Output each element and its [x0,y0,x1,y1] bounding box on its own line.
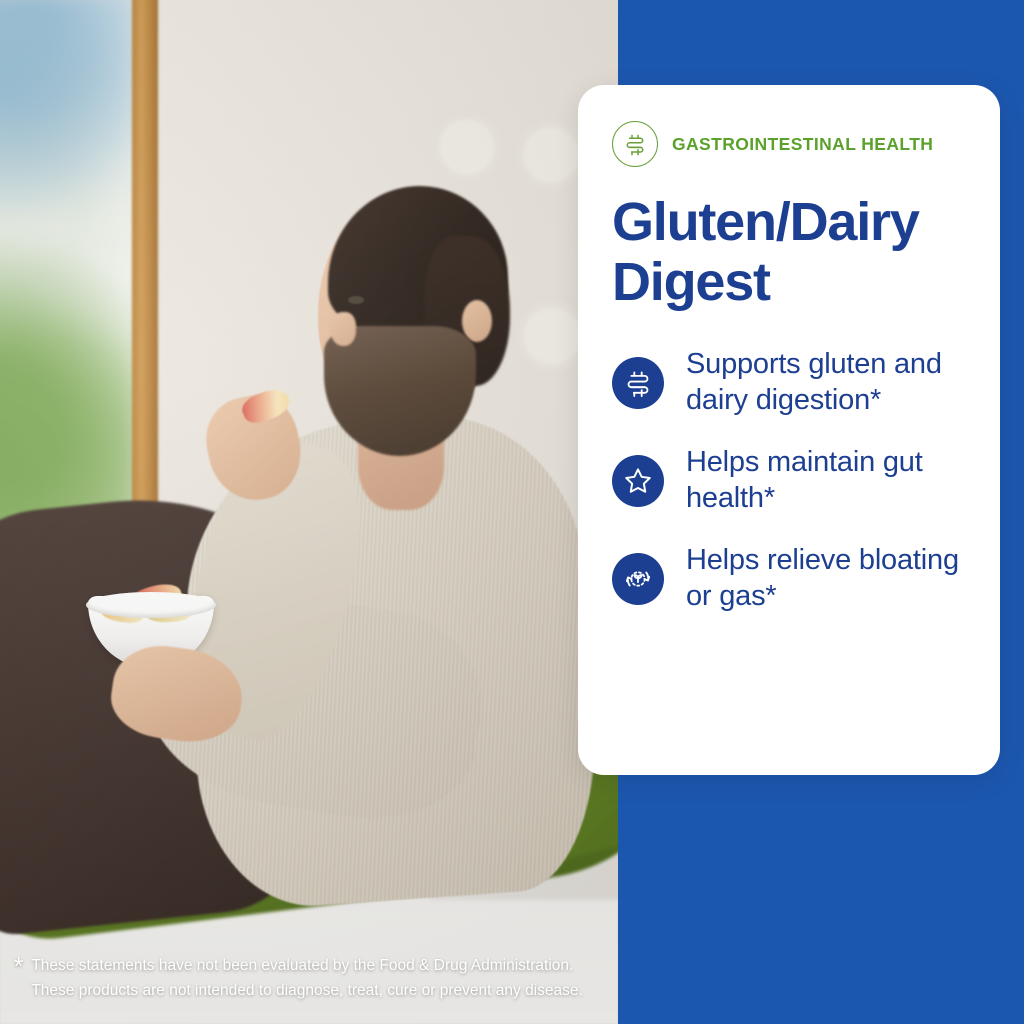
photo-wall-plate [432,112,502,182]
benefit-label: Helps relieve bloating or gas* [686,543,974,615]
benefits-list: Supports gluten and dairy digestion* Hel… [612,347,974,615]
disclaimer-line-1: These statements have not been evaluated… [31,957,573,974]
photo-window-frame [132,0,158,580]
intestine-icon [612,121,658,167]
disclaimer: * These statements have not been evaluat… [14,953,614,1004]
photo-nose [330,312,356,346]
lifestyle-photo [0,0,618,1024]
product-info-card: GASTROINTESTINAL HEALTH Gluten/Dairy Dig… [578,85,1000,775]
photo-wall-plate [516,120,586,190]
disclaimer-text: These statements have not been evaluated… [31,953,582,1004]
page-title-line-1: Gluten/Dairy [612,193,974,253]
photo-window [0,0,140,550]
disclaimer-marker: * [14,955,23,979]
intestine-icon [612,357,664,409]
disclaimer-line-2: These products are not intended to diagn… [31,982,582,999]
recycle-sprout-icon [612,553,664,605]
photo-bowl-rim [86,592,216,618]
page-title: Gluten/Dairy Digest [612,193,974,313]
page-title-line-2: Digest [612,253,974,313]
benefit-item: Helps relieve bloating or gas* [612,543,974,615]
photo-eye [348,296,364,304]
category-badge-label: GASTROINTESTINAL HEALTH [672,134,933,155]
benefit-item: Helps maintain gut health* [612,445,974,517]
advertisement-graphic: GASTROINTESTINAL HEALTH Gluten/Dairy Dig… [0,0,1024,1024]
benefit-label: Supports gluten and dairy digestion* [686,347,974,419]
category-badge: GASTROINTESTINAL HEALTH [612,121,974,167]
benefit-item: Supports gluten and dairy digestion* [612,347,974,419]
star-icon [612,455,664,507]
benefit-label: Helps maintain gut health* [686,445,974,517]
